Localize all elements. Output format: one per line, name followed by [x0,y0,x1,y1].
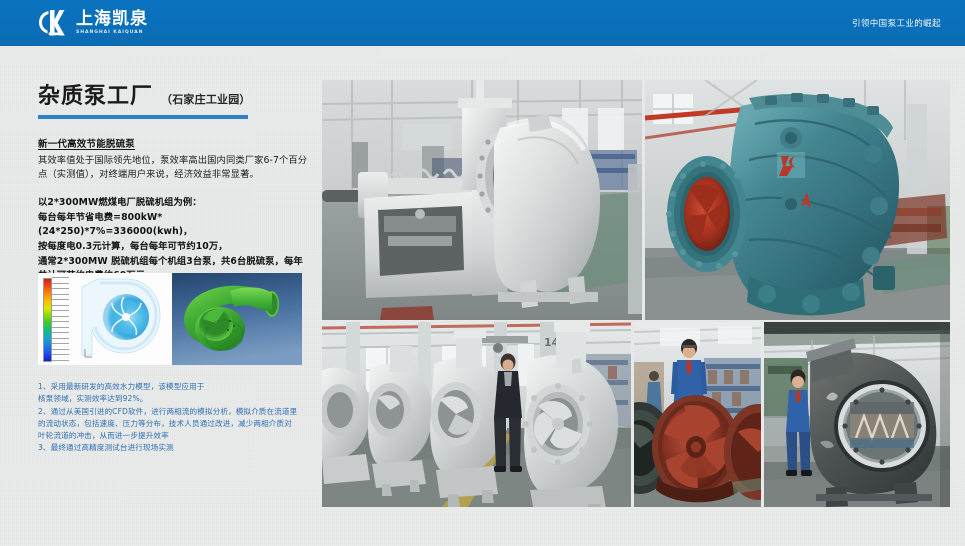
cfd-flow-simulation-image [38,273,172,365]
section-heading: 新一代高效节能脱硫泵 [38,136,314,150]
row-of-grey-pump-casings-with-worker-photo: 14 [322,322,631,507]
volute-3d-model-image [172,273,302,365]
teal-slurry-pump-with-red-impeller-photo [645,80,950,320]
photo-impellers [634,322,761,507]
calc-line-1: 以2*300MW燃煤电厂脱硫机组为例： [38,196,314,211]
photo-casing [764,322,950,507]
photo-pump-line: 14 [322,322,631,507]
page-title-row: 杂质泵工厂 （石家庄工业园） [38,78,314,110]
header-tagline: 引领中国泵工业的崛起 [852,17,941,29]
brand-text-block: 上海凯泉 SHANGHAI KAIQUAN [76,11,148,36]
note-line-2: 核泵领域，实测效率达到92%。 [38,393,328,405]
page-subtitle: （石家庄工业园） [161,91,251,107]
large-dark-pump-casing-with-worker-photo [764,322,950,507]
calc-line-4: 通常2*300MW 脱硫机组每个机组3台泵，共6台脱硫泵，每年 [38,255,314,270]
red-impellers-with-worker-photo [634,322,761,507]
cfd-scale-tick-labels [52,277,72,361]
cfd-image-row [38,273,302,365]
slide-header: 上海凯泉 SHANGHAI KAIQUAN 引领中国泵工业的崛起 [0,0,965,46]
calc-line-2: 每台每年节省电费=800kW*(24*250)*7%=336000(kwh)， [38,211,314,240]
presentation-slide: 上海凯泉 SHANGHAI KAIQUAN 引领中国泵工业的崛起 杂质泵工厂 （… [0,0,965,546]
cfd-volute-contour-plot [80,277,168,363]
brand-lockup: 上海凯泉 SHANGHAI KAIQUAN [36,8,148,38]
note-line-6: 3、最终通过高精度测试台进行现场实测 [38,442,328,454]
intro-body-text: 其效率值处于国际领先地位，泵效率高出国内同类厂家6-7个百分点（实测值），对终端… [38,154,314,182]
page-title: 杂质泵工厂 [38,78,153,110]
cfd-color-scale-bar [43,278,52,362]
title-underline-rule [38,115,248,119]
note-line-4: 的流动状态，包括速度、压力等分布，技术人员通过改进，减少两相介质对 [38,418,328,430]
calc-line-3: 按每度电0.3元计算，每台每年可节约10万， [38,240,314,255]
technical-notes-block: 1、采用最新研发的高效水力模型，该模型应用于 核泵领域，实测效率达到92%。 2… [38,381,328,455]
kaiquan-qx-logo-icon [36,8,70,38]
savings-calculation-block: 以2*300MW燃煤电厂脱硫机组为例： 每台每年节省电费=800kW*(24*2… [38,196,314,284]
note-line-5: 叶轮流道的冲击，从而进一步提升效率 [38,430,328,442]
left-content-column: 杂质泵工厂 （石家庄工业园） 新一代高效节能脱硫泵 其效率值处于国际领先地位，泵… [38,78,314,284]
brand-name-cn: 上海凯泉 [76,11,148,28]
green-volute-3d-render [172,273,302,365]
photo-main-pump [322,80,642,320]
brand-name-en: SHANGHAI KAIQUAN [76,31,149,36]
large-white-pump-assembly-photo [322,80,642,320]
photo-teal-pump [645,80,950,320]
note-line-3: 2、通过从美国引进的CFD软件，进行两相流的模拟分析，模拟介质在流道里 [38,406,328,418]
note-line-1: 1、采用最新研发的高效水力模型，该模型应用于 [38,381,328,393]
